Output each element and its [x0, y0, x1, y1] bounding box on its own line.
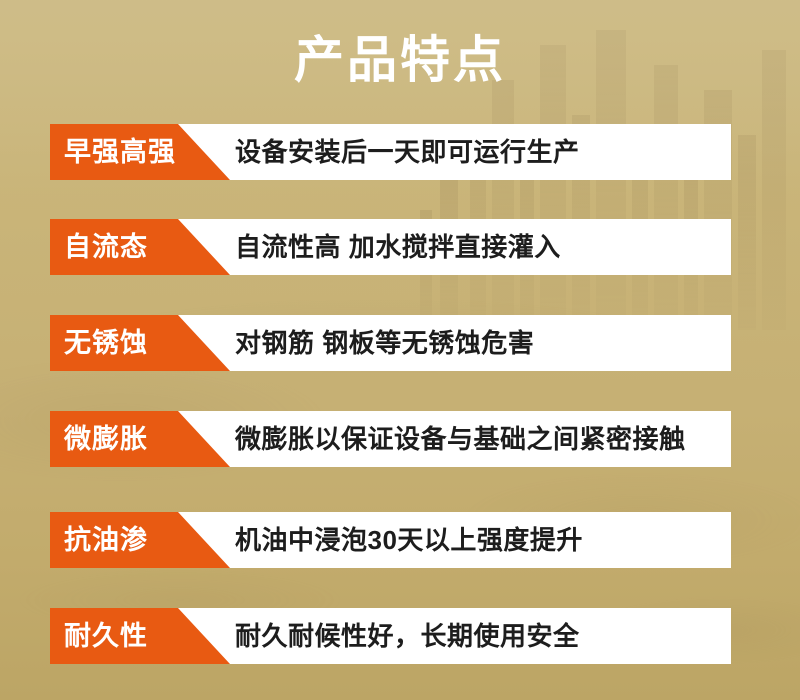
feature-tag-label: 耐久性 [64, 608, 148, 664]
feature-tag-label: 微膨胀 [64, 411, 148, 467]
feature-tag-label: 无锈蚀 [64, 315, 148, 371]
feature-row: 微膨胀 微膨胀以保证设备与基础之间紧密接触 [50, 411, 731, 467]
feature-row: 抗油渗 机油中浸泡30天以上强度提升 [50, 512, 731, 568]
feature-description: 设备安装后一天即可运行生产 [235, 124, 580, 180]
product-features-poster: 产品特点 早强高强 设备安装后一天即可运行生产 自流态 自流性高 加水搅拌直接灌… [0, 0, 800, 700]
feature-tag-label: 早强高强 [64, 124, 176, 180]
feature-row: 自流态 自流性高 加水搅拌直接灌入 [50, 219, 731, 275]
feature-tag-label: 抗油渗 [64, 512, 148, 568]
feature-description: 耐久耐候性好，长期使用安全 [235, 608, 580, 664]
feature-description: 微膨胀以保证设备与基础之间紧密接触 [235, 411, 686, 467]
feature-description: 对钢筋 钢板等无锈蚀危害 [235, 315, 534, 371]
feature-description: 自流性高 加水搅拌直接灌入 [235, 219, 561, 275]
feature-row: 耐久性 耐久耐候性好，长期使用安全 [50, 608, 731, 664]
feature-row: 无锈蚀 对钢筋 钢板等无锈蚀危害 [50, 315, 731, 371]
feature-tag-label: 自流态 [64, 219, 148, 275]
feature-description: 机油中浸泡30天以上强度提升 [235, 512, 583, 568]
feature-row: 早强高强 设备安装后一天即可运行生产 [50, 124, 731, 180]
feature-list: 早强高强 设备安装后一天即可运行生产 自流态 自流性高 加水搅拌直接灌入 无锈蚀… [0, 0, 800, 700]
